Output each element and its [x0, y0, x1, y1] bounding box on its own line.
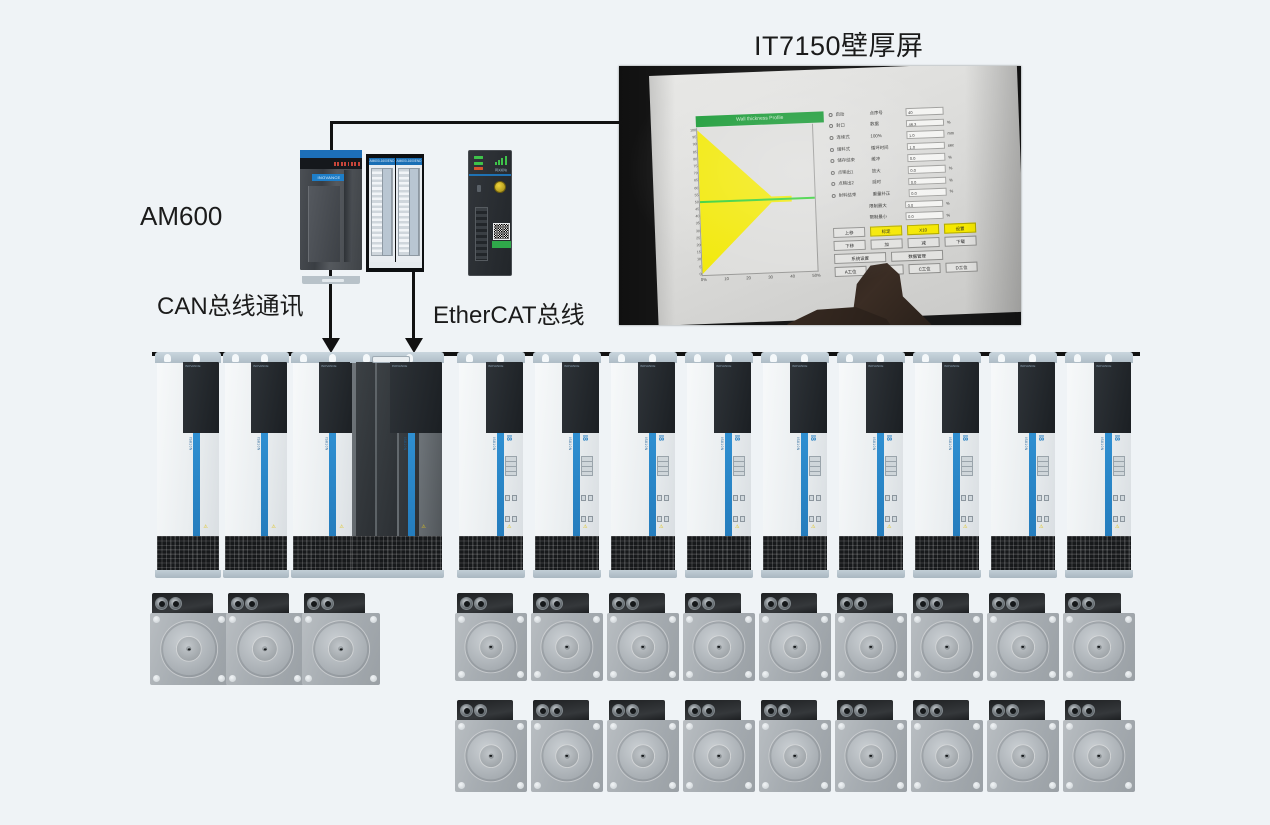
- hmi-button[interactable]: X10: [907, 224, 939, 235]
- drive-din-foot: [685, 570, 753, 578]
- motor-inner-ring: [328, 636, 355, 663]
- drive-display-head: INOVANCE: [319, 362, 355, 433]
- hmi-radio-icon[interactable]: [830, 159, 834, 163]
- drive-model-label: IS810N: [1024, 437, 1028, 451]
- hmi-option-spacer: [833, 218, 870, 219]
- motor-encoder-connector-icon: [930, 704, 943, 717]
- hmi-y-tick: 25: [688, 236, 700, 240]
- servo-motor: [607, 593, 679, 681]
- hmi-field-input[interactable]: 0.0: [909, 188, 947, 197]
- motor-inner-ring: [479, 635, 504, 660]
- hmi-field-label: 放大: [872, 167, 908, 174]
- motor-encoder-connector-icon: [1006, 597, 1019, 610]
- motor-mount-bolt: [973, 782, 980, 789]
- servo-motor: [911, 700, 983, 792]
- motor-power-connector-icon: [612, 704, 625, 717]
- motor-inner-ring: [631, 635, 656, 660]
- motor-mount-bolt: [990, 616, 997, 623]
- servo-drive: INOVANCEIS810NI8⚠: [535, 362, 599, 570]
- drive-din-foot: [837, 570, 905, 578]
- plc-top-panel: [300, 158, 362, 169]
- hmi-radio-icon[interactable]: [831, 182, 835, 186]
- hmi-y-tick: 100: [684, 128, 696, 132]
- servo-motor: [531, 700, 603, 792]
- drive-brand-label: INOVANCE: [1096, 364, 1129, 368]
- drive-din-foot: [291, 570, 357, 578]
- motor-mount-bolt: [897, 723, 904, 730]
- drive-network-port: [733, 495, 738, 501]
- drive-model-label: IS810N: [644, 437, 648, 451]
- motor-mount-bolt: [370, 616, 377, 623]
- drive-vent-base: [1067, 536, 1131, 570]
- warning-icon: ⚠: [887, 524, 891, 530]
- drive-network-port: [1037, 495, 1042, 501]
- motor-mount-bolt: [745, 723, 752, 730]
- motor-body: [531, 613, 603, 681]
- servo-drive: INOVANCEIS810NI8⚠: [687, 362, 751, 570]
- gateway-divider: [469, 174, 511, 176]
- motor-flange: [844, 620, 897, 673]
- motor-body: [1063, 613, 1135, 681]
- usb-port-icon: [477, 185, 481, 192]
- drive-network-port: [885, 516, 890, 522]
- drive-vent-base: [293, 536, 355, 570]
- drive-series-marking: I8: [809, 435, 816, 441]
- motor-mount-bolt: [517, 671, 524, 678]
- hmi-option-label[interactable]: 封口: [836, 122, 870, 129]
- motor-body: [455, 720, 527, 792]
- hmi-y-tick: 10: [689, 258, 701, 262]
- motor-power-connector-icon: [840, 704, 853, 717]
- motor-encoder-connector-icon: [854, 597, 867, 610]
- motor-mount-bolt: [610, 723, 617, 730]
- motor-mount-bolt: [218, 616, 225, 623]
- motor-flange: [1072, 620, 1125, 673]
- hmi-field-input[interactable]: 0.0: [908, 176, 946, 185]
- hmi-y-tick: 80: [685, 157, 697, 161]
- motor-body: [911, 720, 983, 792]
- motor-power-connector-icon: [231, 597, 244, 610]
- arrow-ethercat-icon: [405, 338, 423, 353]
- drive-network-port: [505, 495, 510, 501]
- drive-brand-label: INOVANCE: [868, 364, 901, 368]
- warning-icon: ⚠: [811, 524, 815, 530]
- gateway-label-strip: [492, 241, 511, 248]
- drive-brand-label: INOVANCE: [640, 364, 673, 368]
- motor-mount-bolt: [458, 671, 465, 678]
- drive-din-foot: [609, 570, 677, 578]
- drive-brand-label: INOVANCE: [716, 364, 749, 368]
- motor-mount-bolt: [1049, 782, 1056, 789]
- drive-network-port: [1120, 516, 1125, 522]
- motor-body: [531, 720, 603, 792]
- motor-mount-bolt: [1049, 616, 1056, 623]
- drive-network-port: [664, 495, 669, 501]
- motor-mount-bolt: [534, 723, 541, 730]
- hmi-y-tick: 35: [688, 222, 700, 226]
- servo-drive: INOVANCEIS810NI8⚠: [459, 362, 523, 570]
- hmi-radio-icon[interactable]: [829, 136, 833, 140]
- drive-network-port: [581, 516, 586, 522]
- motor-power-connector-icon: [460, 597, 473, 610]
- warning-icon: ⚠: [1115, 524, 1119, 530]
- hmi-button-panel: 上移标定X10设置下移加减下载系统设置数据管理A工位B工位C工位D工位: [833, 222, 985, 277]
- hmi-button[interactable]: 标定: [870, 225, 902, 236]
- hmi-field-label: 延时: [872, 178, 908, 185]
- drive-series-marking: I8: [581, 435, 588, 441]
- drive-vent-base: [763, 536, 827, 570]
- servo-motor: [302, 593, 380, 685]
- plc-expansion-slot: [344, 170, 352, 262]
- drive-network-port: [968, 495, 973, 501]
- motor-shaft: [1097, 754, 1102, 759]
- motor-mount-bolt: [294, 675, 301, 682]
- hmi-option-label[interactable]: 连续式: [836, 134, 870, 141]
- servo-motor: [455, 593, 527, 681]
- motor-mount-bolt: [458, 723, 465, 730]
- motor-shaft: [717, 645, 722, 650]
- drive-brand-label: INOVANCE: [792, 364, 825, 368]
- motor-mount-bolt: [897, 616, 904, 623]
- drive-model-label: IS810N: [1100, 437, 1104, 451]
- drive-network-port: [1044, 516, 1049, 522]
- motor-inner-ring: [859, 744, 884, 769]
- hmi-y-tick: 70: [686, 171, 698, 175]
- drive-din-foot: [1065, 570, 1133, 578]
- hmi-option-label[interactable]: 点输出1: [838, 168, 872, 175]
- motor-mount-bolt: [1066, 671, 1073, 678]
- motor-mount-bolt: [686, 616, 693, 623]
- motor-inner-ring: [252, 636, 279, 663]
- hmi-button[interactable]: 减: [907, 237, 939, 248]
- motor-flange: [616, 729, 669, 782]
- motor-mount-bolt: [593, 723, 600, 730]
- hmi-y-tick: 20: [688, 243, 700, 247]
- plc-front-face: [308, 186, 340, 262]
- hmi-option-spacer: [832, 206, 869, 207]
- hmi-x-tick: 0%: [701, 277, 707, 282]
- hmi-field-input[interactable]: 0.0: [905, 200, 943, 209]
- motor-encoder-connector-icon: [321, 597, 334, 610]
- drive-network-port: [581, 495, 586, 501]
- hmi-radio-icon[interactable]: [832, 194, 836, 198]
- hmi-option-label[interactable]: 启动: [836, 110, 870, 117]
- hmi-radio-icon[interactable]: [829, 113, 833, 117]
- motor-body: [987, 720, 1059, 792]
- hmi-field-label: 100%: [870, 133, 906, 139]
- motor-mount-bolt: [745, 782, 752, 789]
- drive-model-label: IS810N: [324, 437, 328, 451]
- drive-network-port: [1113, 516, 1118, 522]
- motor-shaft: [945, 754, 950, 759]
- servo-motor: [759, 593, 831, 681]
- hmi-field-unit: %: [949, 177, 953, 182]
- hmi-y-tick: 40: [687, 214, 699, 218]
- drive-network-port: [809, 495, 814, 501]
- drive-display-head: INOVANCE: [790, 362, 827, 433]
- warning-icon: ⚠: [203, 524, 207, 530]
- plc-io-modules: AM600-1600END AM600-1600END: [366, 154, 424, 272]
- drive-vent-base: [991, 536, 1055, 570]
- servo-motor: [911, 593, 983, 681]
- motor-mount-bolt: [686, 782, 693, 789]
- motor-mount-bolt: [821, 723, 828, 730]
- drive-vent-base: [839, 536, 903, 570]
- servo-motor: [150, 593, 228, 685]
- motor-power-connector-icon: [764, 704, 777, 717]
- hmi-button[interactable]: 加: [870, 238, 902, 249]
- motor-flange: [692, 620, 745, 673]
- power-module-fin: [356, 362, 376, 545]
- drive-network-port: [512, 495, 517, 501]
- motor-power-connector-icon: [688, 597, 701, 610]
- ethercat-bus-line: [412, 265, 415, 343]
- motor-encoder-connector-icon: [930, 597, 943, 610]
- motor-mount-bolt: [1049, 671, 1056, 678]
- motor-mount-bolt: [990, 723, 997, 730]
- drive-model-label: IS810N: [720, 437, 724, 451]
- motor-power-connector-icon: [460, 704, 473, 717]
- motor-mount-bolt: [914, 671, 921, 678]
- drive-network-port: [809, 516, 814, 522]
- motor-encoder-connector-icon: [169, 597, 182, 610]
- drive-brand-label: INOVANCE: [321, 364, 353, 368]
- motor-body: [607, 720, 679, 792]
- motor-mount-bolt: [745, 616, 752, 623]
- drive-brand-label: INOVANCE: [944, 364, 977, 368]
- hmi-field-input[interactable]: 0.0: [907, 153, 945, 162]
- motor-mount-bolt: [593, 616, 600, 623]
- hmi-field-label: 数据: [870, 121, 906, 128]
- motor-shaft: [641, 645, 646, 650]
- hmi-y-tick: 45: [687, 207, 699, 211]
- hmi-button[interactable]: 设置: [944, 222, 976, 233]
- warning-icon: ⚠: [735, 524, 739, 530]
- hmi-button[interactable]: 上移: [833, 227, 865, 238]
- drive-brand-label: INOVANCE: [1020, 364, 1053, 368]
- motor-shaft: [869, 754, 874, 759]
- hmi-button[interactable]: 下载: [944, 235, 976, 246]
- motor-inner-ring: [1087, 635, 1112, 660]
- motor-mount-bolt: [1125, 723, 1132, 730]
- motor-flange: [160, 620, 218, 678]
- drive-model-label: IS810N: [948, 437, 952, 451]
- motor-shaft: [338, 646, 343, 651]
- motor-mount-bolt: [838, 616, 845, 623]
- drive-terminal-ports: [885, 456, 897, 476]
- motor-mount-bolt: [1049, 723, 1056, 730]
- motor-mount-bolt: [838, 782, 845, 789]
- motor-mount-bolt: [610, 616, 617, 623]
- motor-encoder-connector-icon: [474, 597, 487, 610]
- drive-model-label: IS810N: [492, 437, 496, 451]
- motor-shaft: [869, 645, 874, 650]
- servo-drive: INOVANCEIS810NI8⚠: [991, 362, 1055, 570]
- motor-power-connector-icon: [536, 597, 549, 610]
- hmi-option-label[interactable]: 点输出2: [838, 180, 872, 187]
- hmi-option-label[interactable]: 射料结束: [839, 191, 873, 198]
- drive-network-port: [961, 495, 966, 501]
- motor-encoder-connector-icon: [1082, 597, 1095, 610]
- page-title: IT7150壁厚屏: [754, 24, 924, 63]
- drive-network-port: [892, 516, 897, 522]
- drive-vent-base: [225, 536, 287, 570]
- drive-terminal-ports: [1113, 456, 1125, 476]
- motor-shaft: [565, 645, 570, 650]
- drive-display-head: INOVANCE: [942, 362, 979, 433]
- drive-display-head: INOVANCE: [866, 362, 903, 433]
- hmi-y-tick: 65: [686, 179, 698, 183]
- hmi-field-input[interactable]: 1.0: [907, 141, 945, 150]
- motor-mount-bolt: [669, 723, 676, 730]
- drive-brand-label: INOVANCE: [564, 364, 597, 368]
- drive-model-label: IS810N: [568, 437, 572, 451]
- hmi-button[interactable]: 数据管理: [891, 250, 943, 262]
- motor-mount-bolt: [973, 671, 980, 678]
- can-bus-label: CAN总线通讯: [157, 286, 304, 321]
- hmi-field-input[interactable]: 0.0: [905, 211, 943, 220]
- plc-top-strip: [300, 150, 362, 158]
- hmi-chart-plot: [696, 124, 819, 276]
- motor-body: [302, 613, 380, 685]
- motor-flange: [844, 729, 897, 782]
- hmi-field-unit: %: [950, 189, 954, 194]
- hmi-field-unit: %: [946, 212, 950, 217]
- motor-flange: [920, 620, 973, 673]
- drive-brand-label: INOVANCE: [185, 364, 217, 368]
- motor-body: [987, 613, 1059, 681]
- hmi-field-unit: %: [946, 201, 950, 206]
- hmi-radio-icon[interactable]: [829, 124, 833, 128]
- motor-mount-bolt: [593, 782, 600, 789]
- motor-shaft: [1021, 754, 1026, 759]
- motor-flange: [768, 729, 821, 782]
- hmi-button[interactable]: 系统设置: [834, 252, 886, 264]
- motor-power-connector-icon: [840, 597, 853, 610]
- motor-flange: [312, 620, 370, 678]
- hmi-radio-icon[interactable]: [830, 148, 834, 152]
- motor-mount-bolt: [914, 723, 921, 730]
- motor-encoder-connector-icon: [1082, 704, 1095, 717]
- drive-terminal-ports: [657, 456, 669, 476]
- motor-shaft: [262, 646, 267, 651]
- motor-shaft: [793, 645, 798, 650]
- drive-display-head: INOVANCE: [486, 362, 523, 433]
- motor-body: [683, 720, 755, 792]
- motor-encoder-connector-icon: [1006, 704, 1019, 717]
- motor-mount-bolt: [370, 675, 377, 682]
- motor-mount-bolt: [686, 723, 693, 730]
- motor-body: [150, 613, 228, 685]
- motor-mount-bolt: [1125, 616, 1132, 623]
- hmi-field-label: 重量补正: [873, 190, 909, 197]
- drive-model-label: IS810N: [872, 437, 876, 451]
- motor-mount-bolt: [686, 671, 693, 678]
- motor-mount-bolt: [610, 671, 617, 678]
- motor-shaft: [489, 645, 494, 650]
- motor-mount-bolt: [229, 675, 236, 682]
- drive-series-marking: I8: [657, 435, 664, 441]
- warning-icon: ⚠: [963, 524, 967, 530]
- motor-mount-bolt: [669, 671, 676, 678]
- hmi-option-label[interactable]: 储存结束: [837, 157, 871, 164]
- motor-mount-bolt: [458, 616, 465, 623]
- drive-display-head: INOVANCE: [1094, 362, 1131, 433]
- motor-mount-bolt: [153, 616, 160, 623]
- motor-encoder-connector-icon: [626, 704, 639, 717]
- hmi-x-tick: 50%: [812, 273, 821, 278]
- warning-icon: ⚠: [659, 524, 663, 530]
- drive-terminal-ports: [581, 456, 593, 476]
- motor-encoder-connector-icon: [474, 704, 487, 717]
- hmi-field-unit: %: [947, 119, 951, 124]
- servo-motor: [835, 593, 907, 681]
- motor-encoder-connector-icon: [702, 597, 715, 610]
- arrow-can-icon: [322, 338, 340, 353]
- hmi-button[interactable]: 下移: [833, 240, 865, 251]
- drive-network-port: [664, 516, 669, 522]
- motor-mount-bolt: [294, 616, 301, 623]
- motor-mount-bolt: [838, 723, 845, 730]
- drive-model-label: IS810N: [796, 437, 800, 451]
- hmi-field-unit: mm: [947, 131, 954, 136]
- hmi-button[interactable]: A工位: [834, 266, 866, 277]
- warning-icon: ⚠: [339, 524, 343, 530]
- hmi-field-input[interactable]: 1.0: [906, 130, 944, 139]
- motor-encoder-connector-icon: [702, 704, 715, 717]
- drive-network-port: [816, 516, 821, 522]
- motor-encoder-connector-icon: [626, 597, 639, 610]
- hmi-button[interactable]: C工位: [908, 263, 940, 274]
- motor-shaft: [717, 754, 722, 759]
- motor-mount-bolt: [973, 616, 980, 623]
- plc-label: AM600: [140, 201, 222, 232]
- gateway-model-label: 网关模块: [491, 168, 511, 172]
- motor-inner-ring: [707, 744, 732, 769]
- motor-flange: [996, 620, 1049, 673]
- gateway-module: 网关模块: [468, 150, 512, 276]
- hmi-field-input[interactable]: 46.3: [906, 118, 944, 127]
- hmi-button[interactable]: D工位: [945, 261, 977, 272]
- hmi-option-label[interactable]: 储料式: [837, 145, 871, 152]
- servo-motor: [226, 593, 304, 685]
- motor-flange: [464, 729, 517, 782]
- drive-display-head: INOVANCE: [562, 362, 599, 433]
- motor-shaft: [565, 754, 570, 759]
- hmi-field-input[interactable]: 0.0: [908, 165, 946, 174]
- motor-mount-bolt: [897, 671, 904, 678]
- hmi-field-input[interactable]: 40: [905, 107, 943, 116]
- drive-network-port: [1120, 495, 1125, 501]
- motor-inner-ring: [555, 744, 580, 769]
- motor-mount-bolt: [1066, 616, 1073, 623]
- servo-motor: [607, 700, 679, 792]
- hmi-parameter-rows: 启动点序号40封口数据46.3%连续式100%1.0mm储料式循环时间1.0se…: [828, 103, 982, 225]
- drive-network-port: [961, 516, 966, 522]
- motor-body: [1063, 720, 1135, 792]
- motor-flange: [540, 620, 593, 673]
- plc-io-module-1-label: AM600-1600END: [369, 158, 395, 165]
- hmi-radio-icon[interactable]: [831, 171, 835, 175]
- drive-terminal-ports: [1037, 456, 1049, 476]
- drive-network-port: [740, 516, 745, 522]
- hmi-y-tick: 0: [690, 272, 702, 276]
- drive-network-port: [1037, 516, 1042, 522]
- motor-mount-bolt: [762, 616, 769, 623]
- motor-mount-bolt: [153, 675, 160, 682]
- servo-motor: [1063, 700, 1135, 792]
- drive-network-port: [657, 495, 662, 501]
